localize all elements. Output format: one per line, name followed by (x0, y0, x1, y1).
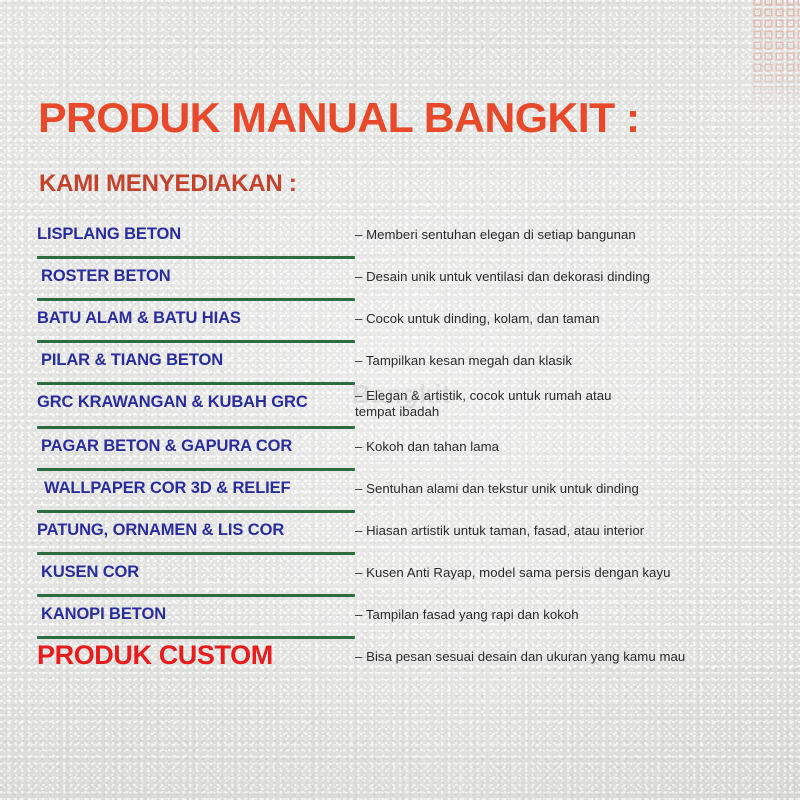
row-divider (37, 552, 355, 555)
product-description: – Sentuhan alami dan tekstur unik untuk … (355, 481, 639, 497)
product-description: – Desain unik untuk ventilasi dan dekora… (355, 269, 650, 285)
list-item: PAGAR BETON & GAPURA COR – Kokoh dan tah… (0, 426, 800, 468)
product-label: KUSEN COR (41, 563, 139, 582)
product-label: PILAR & TIANG BETON (41, 351, 223, 370)
product-label: PATUNG, ORNAMEN & LIS COR (37, 521, 284, 540)
product-description: – Memberi sentuhan elegan di setiap bang… (355, 227, 636, 243)
product-label: WALLPAPER COR 3D & RELIEF (44, 479, 291, 498)
product-label-custom: PRODUK CUSTOM (37, 640, 273, 671)
product-label: LISPLANG BETON (37, 225, 181, 244)
product-description: – Cocok untuk dinding, kolam, dan taman (355, 311, 600, 327)
product-description: – Kusen Anti Rayap, model sama persis de… (355, 565, 670, 581)
row-divider (37, 256, 355, 259)
row-divider (37, 382, 355, 385)
product-description: – Elegan & artistik, cocok untuk rumah a… (355, 388, 612, 420)
product-list: LISPLANG BETON – Memberi sentuhan elegan… (0, 214, 800, 678)
page-title: PRODUK MANUAL BANGKIT : (38, 97, 640, 139)
list-item: WALLPAPER COR 3D & RELIEF – Sentuhan ala… (0, 468, 800, 510)
product-description: – Hiasan artistik untuk taman, fasad, at… (355, 523, 644, 539)
list-item: KUSEN COR – Kusen Anti Rayap, model sama… (0, 552, 800, 594)
row-divider (37, 298, 355, 301)
product-label: ROSTER BETON (41, 267, 171, 286)
row-divider (37, 636, 355, 639)
list-item: BATU ALAM & BATU HIAS – Cocok untuk dind… (0, 298, 800, 340)
row-divider (37, 468, 355, 471)
product-label: GRC KRAWANGAN & KUBAH GRC (37, 393, 308, 412)
product-label: BATU ALAM & BATU HIAS (37, 309, 241, 328)
row-divider (37, 426, 355, 429)
list-item: ROSTER BETON – Desain unik untuk ventila… (0, 256, 800, 298)
row-divider (37, 510, 355, 513)
list-item: LISPLANG BETON – Memberi sentuhan elegan… (0, 214, 800, 256)
list-item-custom: PRODUK CUSTOM – Bisa pesan sesuai desain… (0, 636, 800, 678)
product-description: – Bisa pesan sesuai desain dan ukuran ya… (355, 649, 685, 665)
row-divider (37, 594, 355, 597)
page-subtitle: KAMI MENYEDIAKAN : (39, 172, 297, 196)
row-divider (37, 340, 355, 343)
list-item: PILAR & TIANG BETON – Tampilkan kesan me… (0, 340, 800, 382)
product-label: KANOPI BETON (41, 605, 166, 624)
list-item: PATUNG, ORNAMEN & LIS COR – Hiasan artis… (0, 510, 800, 552)
list-item: KANOPI BETON – Tampilan fasad yang rapi … (0, 594, 800, 636)
product-label: PAGAR BETON & GAPURA COR (41, 437, 292, 456)
list-item: GRC KRAWANGAN & KUBAH GRC – Elegan & art… (0, 382, 800, 426)
product-description: – Tampilan fasad yang rapi dan kokoh (355, 607, 579, 623)
product-description: – Tampilkan kesan megah dan klasik (355, 353, 572, 369)
product-description: – Kokoh dan tahan lama (355, 439, 499, 455)
